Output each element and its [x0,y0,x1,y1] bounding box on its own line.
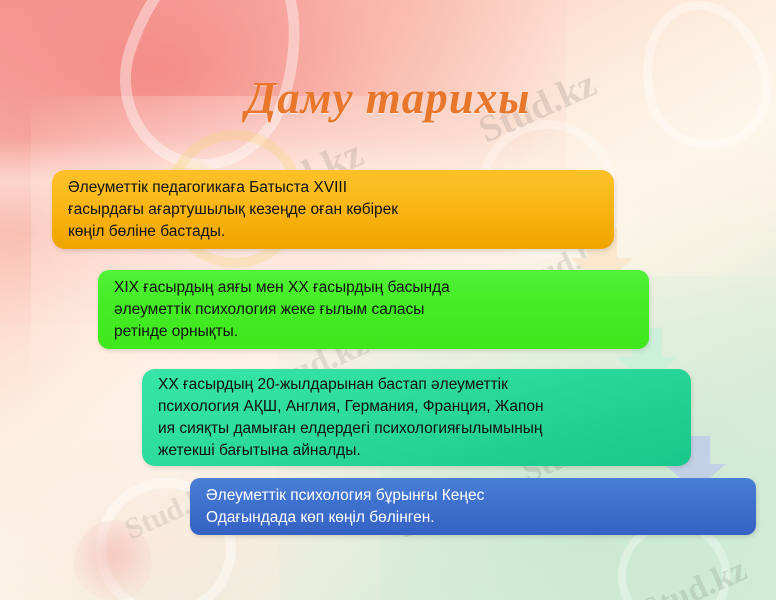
presentation-slide: Stud.kz Stud.kz Stud.kz Stud.kz Stud.kz … [0,0,776,600]
slide-title: Даму тарихы [0,72,776,124]
flow-step-text: XX ғасырдың 20-жылдарынан бастап әлеумет… [142,374,558,462]
flow-step-box: XX ғасырдың 20-жылдарынан бастап әлеумет… [142,369,691,466]
flow-step-text: XIX ғасырдың аяғы мен XX ғасырдың басынд… [98,277,464,343]
flow-step-box: Әлеуметтік психология бұрынғы Кеңес Одағ… [190,478,756,535]
flow-step-box: Әлеуметтік педагогикаға Батыста XVIII ға… [52,170,614,249]
flow-step-box: XIX ғасырдың аяғы мен XX ғасырдың басынд… [98,270,649,349]
flow-step-text: Әлеуметтік педагогикаға Батыста XVIII ға… [52,177,412,243]
flow-step-text: Әлеуметтік психология бұрынғы Кеңес Одағ… [190,485,498,529]
